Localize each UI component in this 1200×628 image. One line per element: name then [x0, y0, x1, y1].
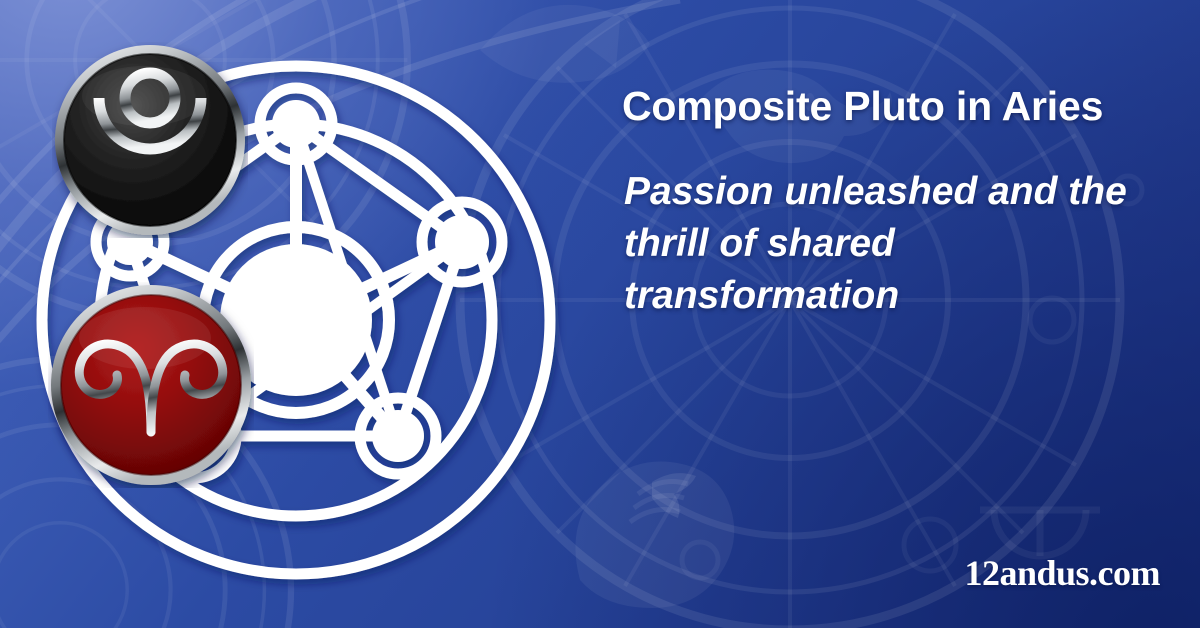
pluto-planet-badge [52, 42, 248, 238]
text-column: Composite Pluto in Aries Passion unleash… [622, 0, 1182, 628]
aries-sign-badge [48, 282, 254, 488]
social-share-banner: Composite Pluto in Aries Passion unleash… [0, 0, 1200, 628]
page-title: Composite Pluto in Aries [622, 84, 1162, 130]
page-subtitle: Passion unleashed and the thrill of shar… [624, 166, 1154, 322]
brand-wordmark: 12andus.com [904, 552, 1160, 594]
